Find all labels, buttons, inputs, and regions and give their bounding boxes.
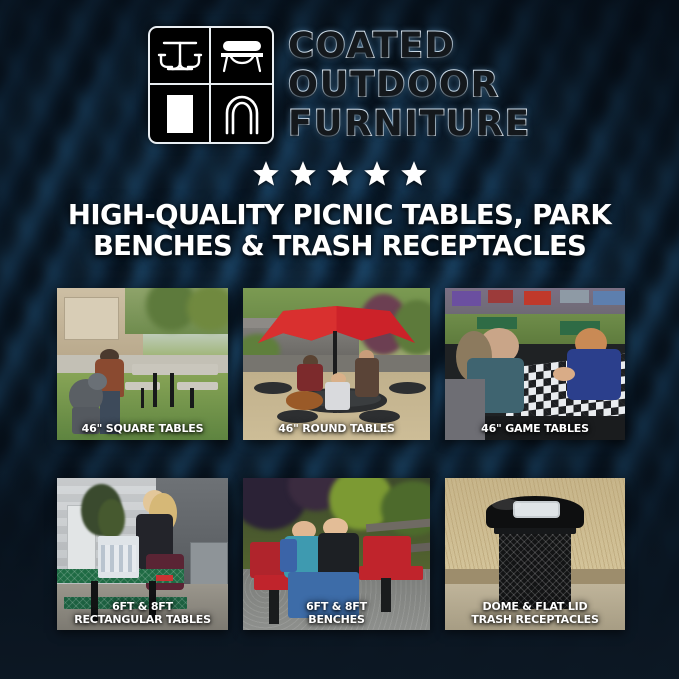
product-caption-trash-receptacles: DOME & FLAT LID TRASH RECEPTACLES [445,601,625,626]
product-grid: 46" SQUARE TABLES [57,288,623,630]
park-bench-icon [211,28,272,85]
product-photo-square-tables [57,288,228,440]
product-card-game-tables[interactable]: 46" GAME TABLES [445,288,625,440]
product-card-rectangular-tables[interactable]: 6FT & 8FT RECTANGULAR TABLES [57,478,228,630]
brand-line-3: FURNITURE [288,106,531,143]
brand-logo: COATED OUTDOOR FURNITURE [0,26,679,144]
product-caption-game-tables: 46" GAME TABLES [445,423,625,436]
product-caption-line-2: BENCHES [246,614,427,627]
star-icon [363,160,391,188]
product-caption-square-tables: 46" SQUARE TABLES [57,423,228,436]
product-caption-round-tables: 46" ROUND TABLES [243,423,430,436]
trash-receptacle-icon [150,85,211,142]
product-caption-rectangular-tables: 6FT & 8FT RECTANGULAR TABLES [57,601,228,626]
bike-rack-icon [211,85,272,142]
logo-mark-grid [148,26,274,144]
star-icon [289,160,317,188]
brand-line-2: OUTDOOR [288,67,531,104]
star-rating [0,160,679,188]
product-photo-round-tables [243,288,430,440]
product-caption-line-2: TRASH RECEPTACLES [448,614,622,627]
product-caption-benches: 6FT & 8FT BENCHES [243,601,430,626]
brand-wordmark: COATED OUTDOOR FURNITURE [288,26,531,143]
headline-line-1: HIGH-QUALITY PICNIC TABLES, PARK [34,200,645,231]
product-caption-line-1: 6FT & 8FT [60,601,225,614]
star-icon [252,160,280,188]
promotional-banner: COATED OUTDOOR FURNITURE HIGH-QUALITY PI… [0,0,679,679]
product-photo-game-tables [445,288,625,440]
star-icon [326,160,354,188]
headline: HIGH-QUALITY PICNIC TABLES, PARK BENCHES… [34,200,645,262]
product-card-square-tables[interactable]: 46" SQUARE TABLES [57,288,228,440]
product-caption-line-1: 6FT & 8FT [246,601,427,614]
star-icon [400,160,428,188]
headline-line-2: BENCHES & TRASH RECEPTACLES [34,231,645,262]
brand-line-1: COATED [288,28,531,65]
picnic-table-icon [150,28,211,85]
product-card-trash-receptacles[interactable]: DOME & FLAT LID TRASH RECEPTACLES [445,478,625,630]
product-caption-line-2: RECTANGULAR TABLES [60,614,225,627]
product-caption-line-1: DOME & FLAT LID [448,601,622,614]
product-card-round-tables[interactable]: 46" ROUND TABLES [243,288,430,440]
product-card-benches[interactable]: 6FT & 8FT BENCHES [243,478,430,630]
